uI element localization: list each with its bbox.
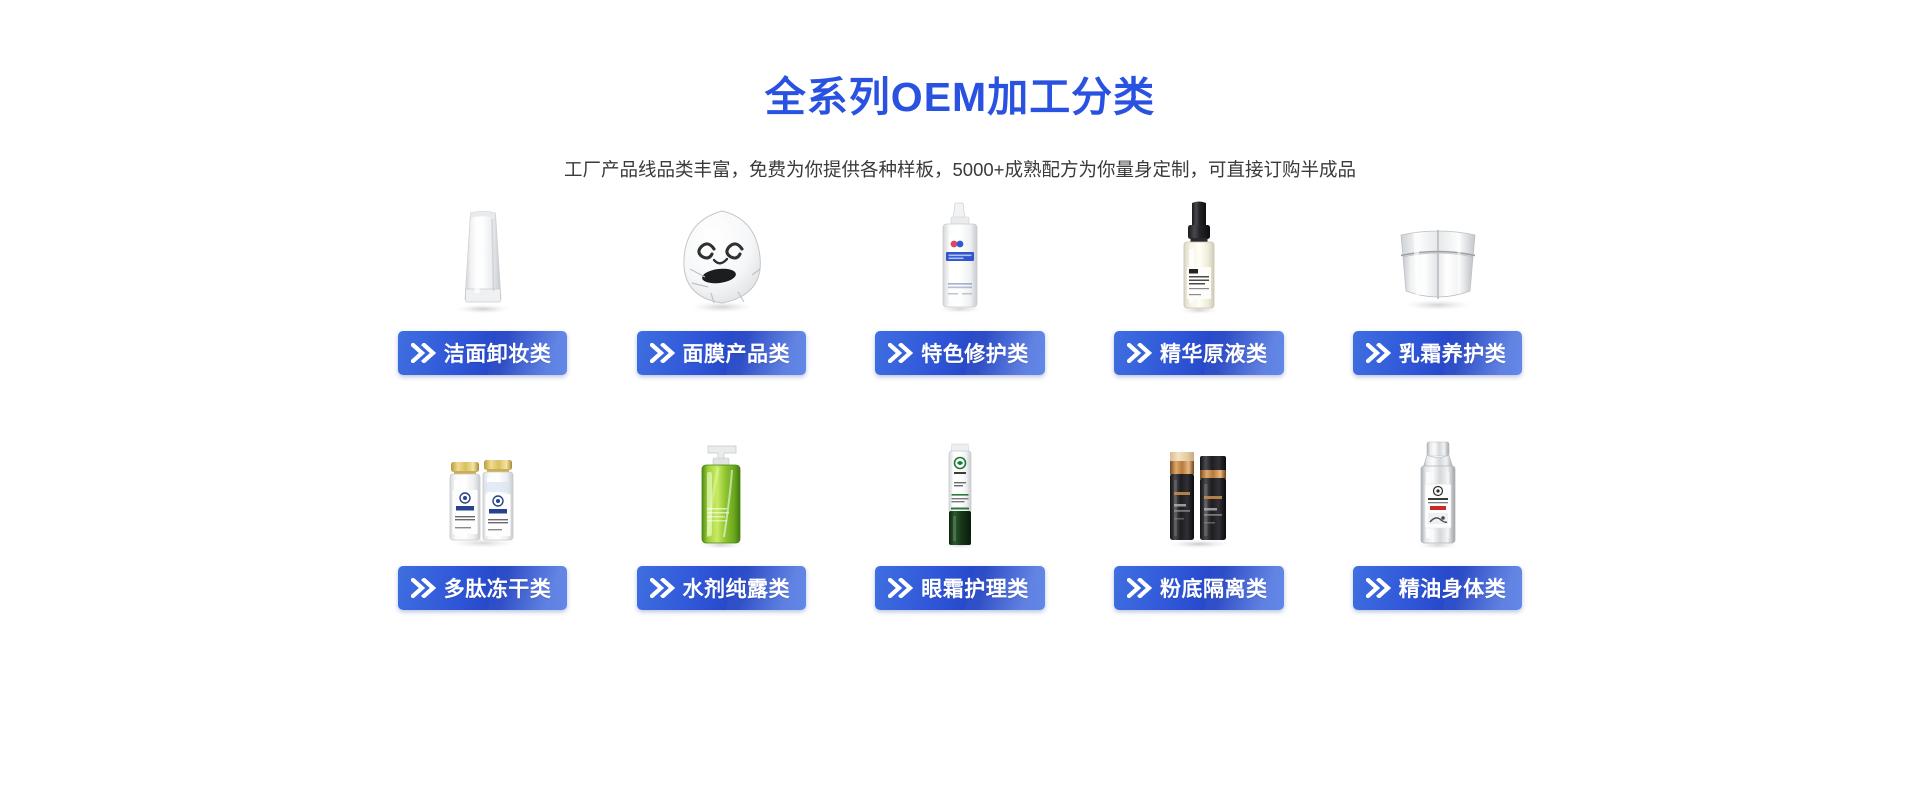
- ampoule-vials-icon: [418, 432, 548, 550]
- double-chevron-right-icon: [1366, 343, 1392, 363]
- page-subtitle: 工厂产品线品类丰富，免费为你提供各种样板，5000+成熟配方为你量身定制，可直接…: [560, 154, 1360, 185]
- category-button-repair[interactable]: 特色修护类: [875, 331, 1045, 375]
- category-cell: 多肽冻干类: [380, 432, 585, 610]
- product-image-repair-spray: [858, 197, 1063, 315]
- eye-cream-tube-icon: [905, 432, 1015, 550]
- double-chevron-right-icon: [411, 343, 437, 363]
- page-title: 全系列OEM加工分类: [0, 74, 1920, 121]
- double-chevron-right-icon: [888, 578, 914, 598]
- category-label: 眼霜护理类: [921, 573, 1029, 603]
- pump-bottle-icon: [666, 432, 776, 550]
- product-image-foundation-bottles: [1096, 432, 1301, 550]
- face-sheet-mask-icon: [656, 197, 786, 315]
- category-cell: 眼霜护理类: [858, 432, 1063, 610]
- cosmetic-tube-icon: [423, 197, 543, 315]
- aluminium-bottle-icon: [1383, 432, 1493, 550]
- product-image-cream-jar: [1335, 197, 1540, 315]
- category-cell: 乳霜养护类: [1335, 197, 1540, 375]
- category-label: 面膜产品类: [683, 338, 791, 368]
- category-label: 特色修护类: [921, 338, 1029, 368]
- product-image-dropper-serum: [1096, 197, 1301, 315]
- category-cell: 粉底隔离类: [1096, 432, 1301, 610]
- oem-categories-page: 全系列OEM加工分类 工厂产品线品类丰富，免费为你提供各种样板，5000+成熟配…: [0, 0, 1920, 800]
- category-label: 水剂纯露类: [683, 573, 791, 603]
- category-grid: 洁面卸妆类: [380, 197, 1540, 610]
- category-cell: 洁面卸妆类: [380, 197, 585, 375]
- product-image-freeze-dried-vials: [380, 432, 585, 550]
- double-chevron-right-icon: [411, 578, 437, 598]
- page-header: 全系列OEM加工分类 工厂产品线品类丰富，免费为你提供各种样板，5000+成熟配…: [0, 0, 1920, 185]
- category-row: 多肽冻干类: [380, 432, 1540, 610]
- foundation-bottle-icon: [1134, 432, 1264, 550]
- product-image-sheet-mask: [619, 197, 824, 315]
- category-label: 精华原液类: [1160, 338, 1268, 368]
- product-image-eye-cream-tube: [858, 432, 1063, 550]
- double-chevron-right-icon: [888, 343, 914, 363]
- category-button-eye-cream[interactable]: 眼霜护理类: [875, 566, 1045, 610]
- double-chevron-right-icon: [1127, 578, 1153, 598]
- category-button-serum[interactable]: 精华原液类: [1114, 331, 1284, 375]
- category-row: 洁面卸妆类: [380, 197, 1540, 375]
- product-image-essential-oil-can: [1335, 432, 1540, 550]
- category-label: 乳霜养护类: [1399, 338, 1507, 368]
- product-image-green-pump-bottle: [619, 432, 824, 550]
- category-button-essential-oil[interactable]: 精油身体类: [1353, 566, 1523, 610]
- category-button-mask[interactable]: 面膜产品类: [637, 331, 807, 375]
- category-cell: 水剂纯露类: [619, 432, 824, 610]
- double-chevron-right-icon: [1127, 343, 1153, 363]
- double-chevron-right-icon: [650, 343, 676, 363]
- category-cell: 精油身体类: [1335, 432, 1540, 610]
- category-button-cleanser[interactable]: 洁面卸妆类: [398, 331, 568, 375]
- category-cell: 精华原液类: [1096, 197, 1301, 375]
- double-chevron-right-icon: [650, 578, 676, 598]
- category-label: 粉底隔离类: [1160, 573, 1268, 603]
- category-label: 多肽冻干类: [444, 573, 552, 603]
- category-cell: 特色修护类: [858, 197, 1063, 375]
- product-image-cleanser-tube: [380, 197, 585, 315]
- category-button-toner[interactable]: 水剂纯露类: [637, 566, 807, 610]
- category-button-peptide[interactable]: 多肽冻干类: [398, 566, 568, 610]
- category-button-foundation[interactable]: 粉底隔离类: [1114, 566, 1284, 610]
- category-label: 精油身体类: [1399, 573, 1507, 603]
- spray-bottle-icon: [905, 197, 1015, 315]
- category-button-cream[interactable]: 乳霜养护类: [1353, 331, 1523, 375]
- dropper-bottle-icon: [1144, 197, 1254, 315]
- cream-jar-icon: [1373, 197, 1503, 315]
- double-chevron-right-icon: [1366, 578, 1392, 598]
- category-label: 洁面卸妆类: [444, 338, 552, 368]
- category-cell: 面膜产品类: [619, 197, 824, 375]
